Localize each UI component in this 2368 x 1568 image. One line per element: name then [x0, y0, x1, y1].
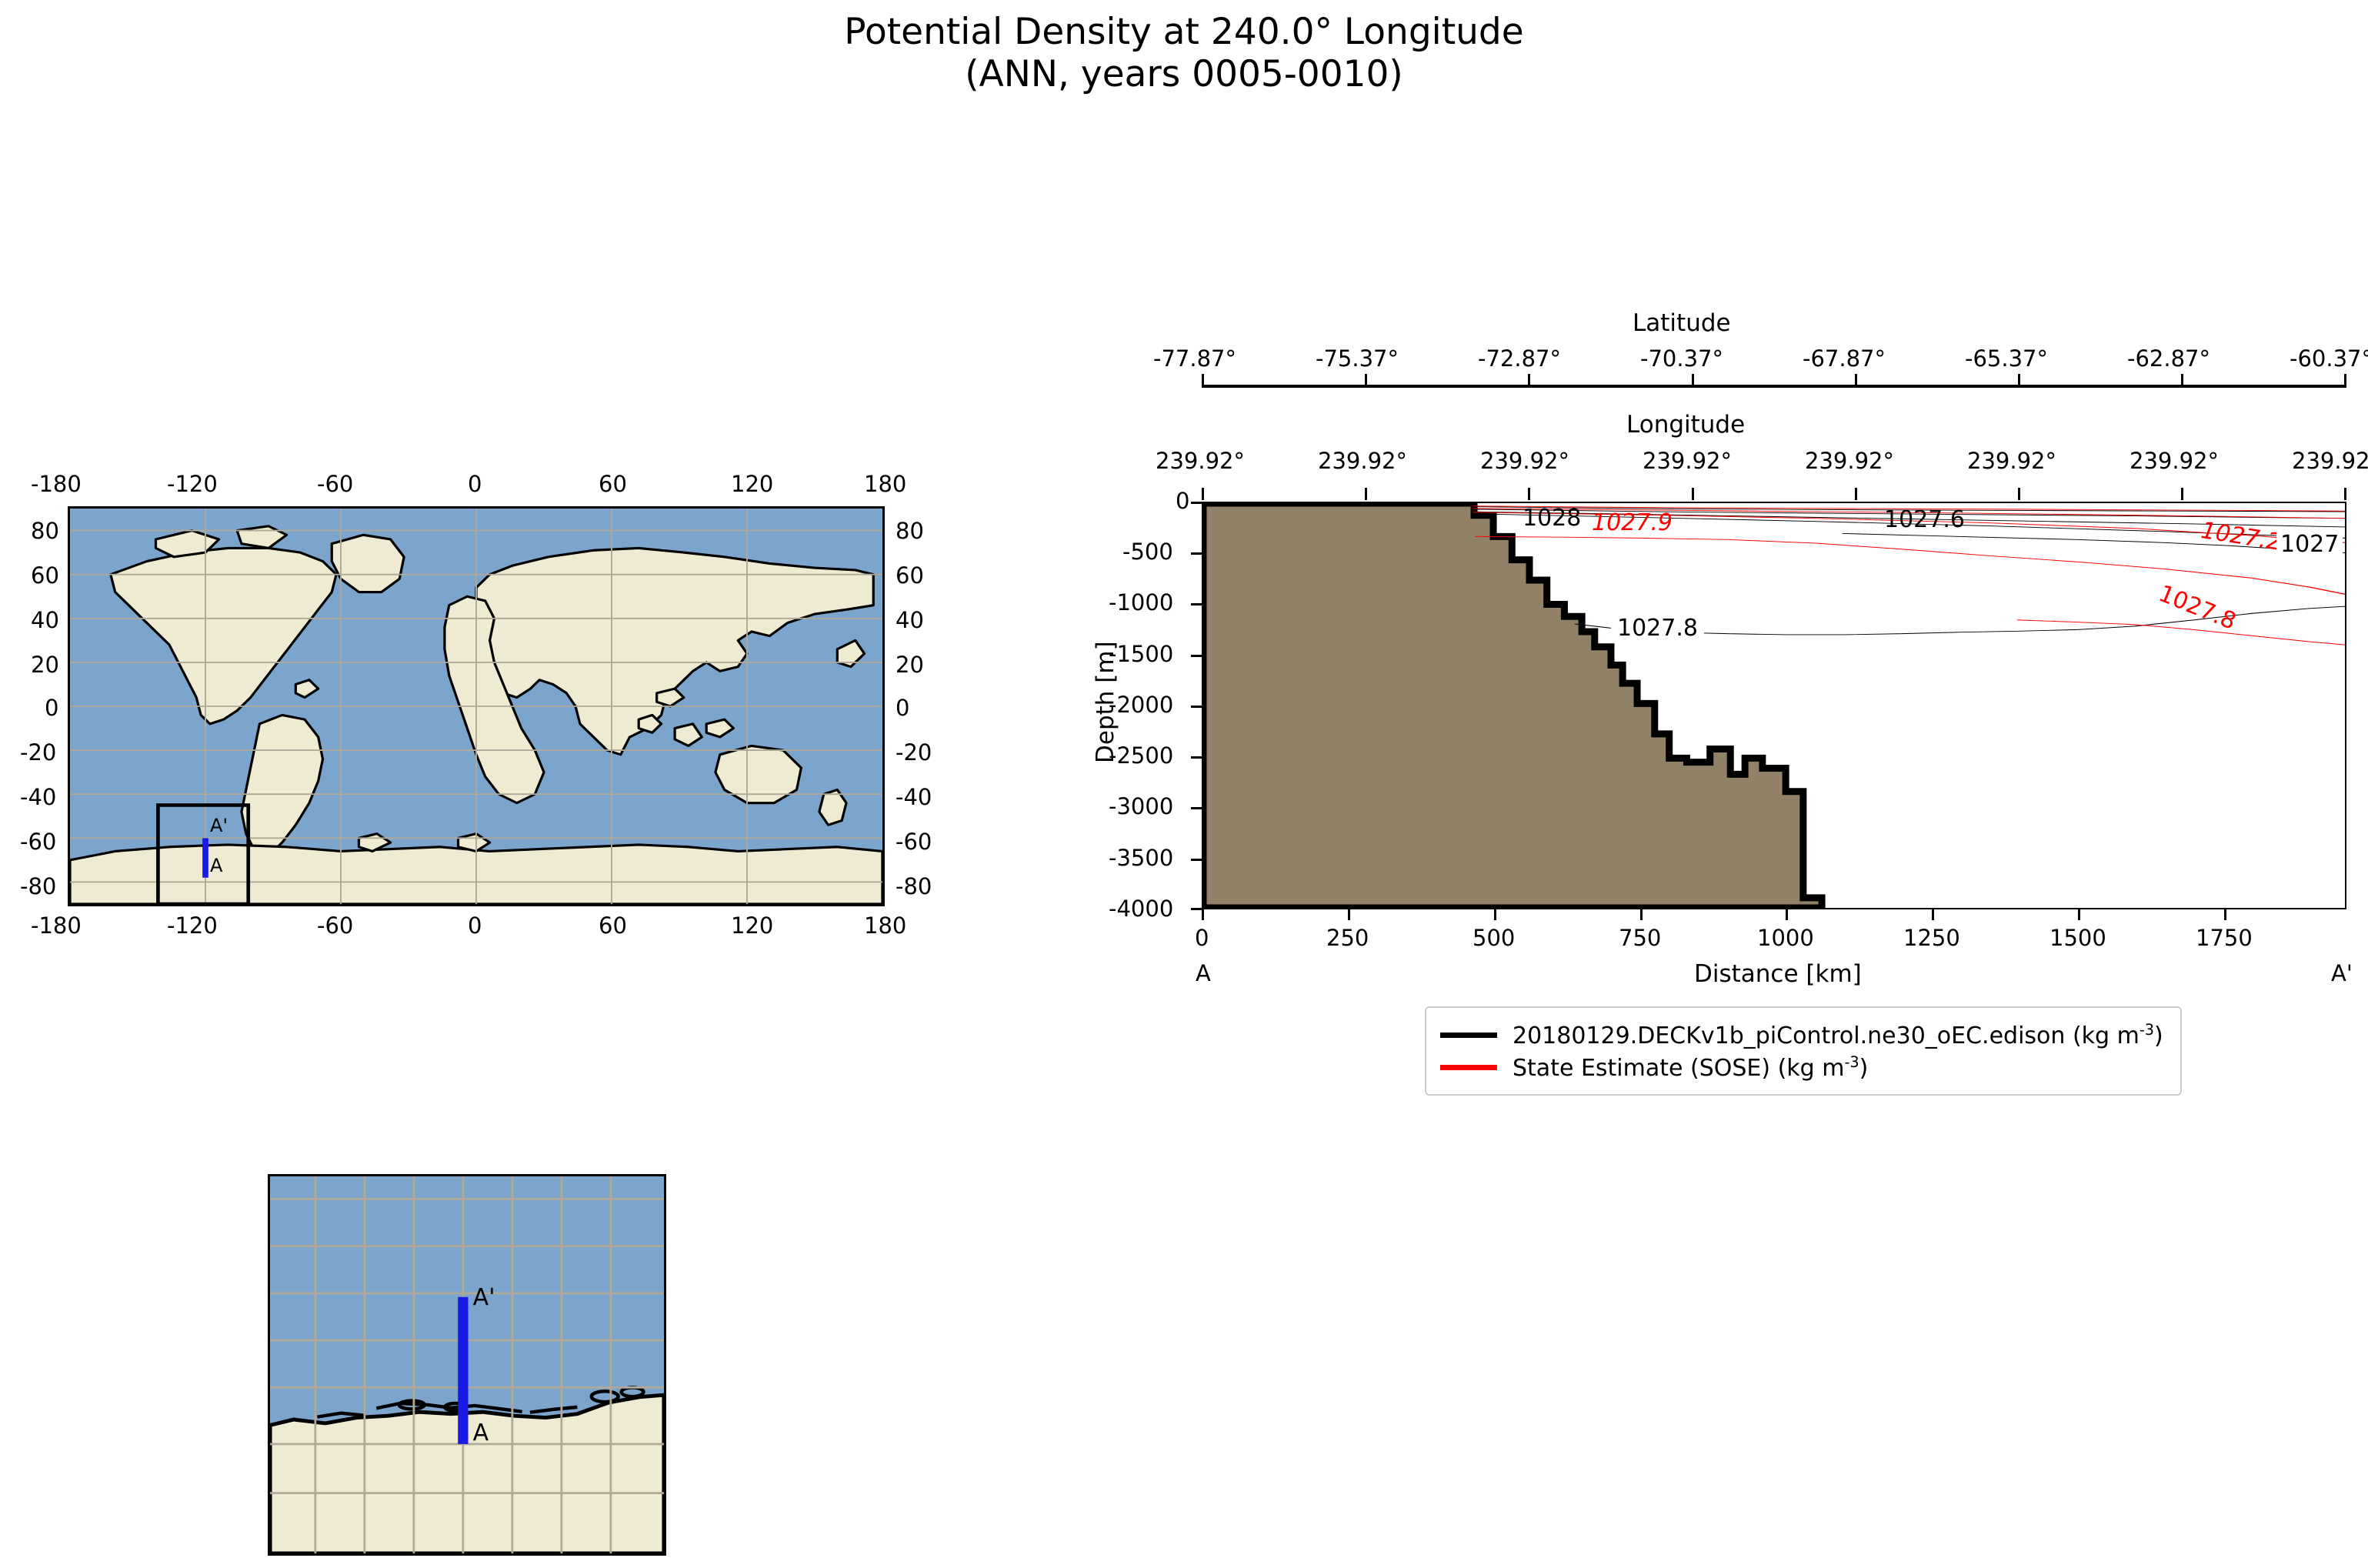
depth-tick-1: -500 [1122, 539, 1173, 565]
distance-tickmark-2 [1494, 909, 1496, 920]
sose-contour-1027p8 [2019, 620, 2345, 645]
inset-transect-start-label: A [473, 1420, 489, 1446]
latitude-axis-title: Latitude [1633, 309, 1731, 337]
legend-label-model: 20180129.DECKv1b_piControl.ne30_oEC.edis… [1513, 1021, 2163, 1049]
world-map-xtick-top-3: 0 [468, 471, 482, 497]
world-map-ytick-right-1: 60 [896, 562, 924, 589]
world-map-ytick-right-7: -60 [896, 829, 932, 855]
section-plot-area[interactable]: 1028 1027.9 1027.6 1027.2 1027.8 1027 10… [1202, 502, 2346, 909]
world-map-transect-end-label: A' [210, 815, 228, 836]
world-map-ytick-right-8: -80 [896, 873, 932, 899]
longitude-tick-0: 239.92° [1156, 448, 1245, 474]
distance-tick-5: 1250 [1903, 925, 1960, 951]
figure-title-line2: (ANN, years 0005-0010) [965, 53, 1403, 95]
world-overview-map: A' A -180 -120 -60 0 60 120 180 -180 -12… [68, 506, 885, 906]
distance-tick-2: 500 [1472, 925, 1515, 951]
longitude-tick-6: 239.92° [2130, 448, 2219, 474]
depth-tick-7: -3500 [1109, 845, 1173, 871]
figure-title: Potential Density at 240.0° Longitude(AN… [0, 11, 2368, 96]
depth-tick-6: -3000 [1109, 793, 1173, 819]
distance-tickmark-3 [1640, 909, 1643, 920]
depth-tickmark-7 [1191, 859, 1202, 861]
contour-label-model-1027p6: 1027.6 [1884, 506, 1965, 533]
inset-transect-end-label: A' [473, 1284, 495, 1311]
depth-tickmark-1 [1191, 552, 1202, 555]
legend-label-model-text: 20180129.DECKv1b_piControl.ne30_oEC.edis… [1513, 1023, 2140, 1049]
legend-label-model-tail: ) [2154, 1023, 2163, 1049]
depth-tick-0: 0 [1176, 488, 1189, 514]
latitude-tickmark-2 [1528, 374, 1530, 385]
world-map-ytick-right-3: 20 [896, 652, 924, 678]
section-end-label: A' [2331, 960, 2353, 986]
latitude-tickmark-4 [1855, 374, 1857, 385]
distance-tickmark-4 [1786, 909, 1788, 920]
latitude-tickmark-5 [2018, 374, 2020, 385]
world-map-ytick-right-2: 40 [896, 607, 924, 633]
world-map-ytick-left-5: -20 [20, 739, 56, 766]
latitude-tick-3: -70.37° [1640, 345, 1723, 372]
legend-row-model[interactable]: 20180129.DECKv1b_piControl.ne30_oEC.edis… [1440, 1019, 2163, 1051]
distance-tick-4: 1000 [1757, 925, 1814, 951]
distance-tick-6: 1500 [2049, 925, 2106, 951]
world-map-ytick-right-5: -20 [896, 739, 932, 766]
world-map-ytick-left-4: 0 [45, 695, 58, 721]
legend-label-model-sup: -3 [2140, 1021, 2154, 1039]
world-map-ytick-right-0: 80 [896, 518, 924, 544]
distance-tickmark-0 [1202, 909, 1204, 920]
longitude-tick-3: 239.92° [1643, 448, 1732, 474]
world-map-ytick-left-7: -60 [20, 829, 56, 855]
longitude-tick-1: 239.92° [1318, 448, 1407, 474]
legend-swatch-model [1440, 1033, 1497, 1038]
distance-tickmark-5 [1932, 909, 1934, 920]
latitude-tickmark-7 [2344, 374, 2346, 385]
world-map-xtick-top-4: 60 [599, 471, 627, 497]
depth-tick-2: -1000 [1109, 589, 1173, 616]
longitude-tickmark-3 [1692, 488, 1694, 500]
section-legend: 20180129.DECKv1b_piControl.ne30_oEC.edis… [1425, 1006, 2182, 1096]
world-map-xtick-bottom-4: 60 [599, 912, 627, 939]
potential-density-cross-section: Latitude -77.87° -75.37° -72.87° -70.37°… [1202, 502, 2346, 909]
distance-tick-3: 750 [1619, 925, 1661, 951]
world-map-ytick-left-1: 60 [31, 562, 59, 589]
distance-axis-title: Distance [km] [1694, 960, 1862, 988]
world-map-xtick-top-1: -120 [167, 471, 218, 497]
latitude-axis-spine [1202, 385, 2346, 388]
contour-label-sose-1027p9: 1027.9 [1592, 509, 1673, 536]
world-map-xtick-bottom-1: -120 [167, 912, 218, 939]
depth-tickmark-4 [1191, 706, 1202, 708]
longitude-axis-title: Longitude [1626, 411, 1745, 439]
legend-row-sose[interactable]: State Estimate (SOSE) (kg m-3) [1440, 1051, 2163, 1083]
depth-tick-3: -1500 [1109, 641, 1173, 667]
world-map-ytick-left-2: 40 [31, 607, 59, 633]
longitude-tick-7: 239.92° [2292, 448, 2368, 474]
legend-swatch-sose [1440, 1065, 1497, 1070]
figure-title-line1: Potential Density at 240.0° Longitude [844, 11, 1523, 53]
world-map-xtick-top-0: -180 [31, 471, 82, 497]
contour-label-model-1028: 1028 [1523, 505, 1581, 532]
distance-tick-1: 250 [1326, 925, 1369, 951]
depth-tick-5: -2500 [1109, 742, 1173, 769]
distance-tick-7: 1750 [2196, 925, 2253, 951]
inset-map-graphic [270, 1176, 664, 1553]
depth-tick-8: -4000 [1109, 896, 1173, 922]
latitude-tick-6: -62.87° [2127, 345, 2210, 372]
world-map-xtick-bottom-6: 180 [864, 912, 906, 939]
world-map-graphic [70, 509, 882, 904]
latitude-tick-4: -67.87° [1803, 345, 1886, 372]
section-graphic [1203, 503, 2345, 908]
longitude-tickmark-5 [2018, 488, 2020, 500]
depth-tickmark-6 [1191, 807, 1202, 809]
distance-tickmark-7 [2224, 909, 2226, 920]
world-map-ytick-left-6: -40 [20, 784, 56, 810]
world-map-xtick-bottom-5: 120 [731, 912, 773, 939]
inset-map-plot-area[interactable]: A' A [268, 1174, 666, 1556]
latitude-tickmark-1 [1365, 374, 1367, 385]
depth-tickmark-2 [1191, 603, 1202, 606]
longitude-tickmark-4 [1855, 488, 1857, 500]
longitude-tick-4: 239.92° [1805, 448, 1894, 474]
depth-tickmark-0 [1191, 502, 1202, 504]
depth-tick-4: -2000 [1109, 692, 1173, 718]
depth-tickmark-5 [1191, 756, 1202, 759]
longitude-tickmark-0 [1202, 488, 1204, 500]
depth-tickmark-3 [1191, 655, 1202, 657]
distance-tickmark-6 [2078, 909, 2080, 920]
depth-tickmark-8 [1191, 908, 1202, 910]
world-map-xtick-bottom-2: -60 [317, 912, 353, 939]
world-map-xtick-bottom-0: -180 [31, 912, 82, 939]
contour-label-model-1027p8: 1027.8 [1611, 615, 1704, 642]
latitude-tickmark-0 [1202, 374, 1204, 385]
legend-label-sose-sup: -3 [1844, 1053, 1859, 1071]
contour-label-model-1027: 1027 [2276, 531, 2343, 558]
world-map-ytick-left-0: 80 [31, 518, 59, 544]
world-map-transect-start-label: A [210, 855, 222, 876]
world-map-ytick-right-4: 0 [896, 695, 909, 721]
legend-label-sose-tail: ) [1859, 1055, 1869, 1082]
latitude-tick-7: -60.37° [2290, 345, 2368, 372]
longitude-tickmark-7 [2344, 488, 2346, 500]
latitude-tick-0: -77.87° [1153, 345, 1236, 372]
world-map-xtick-bottom-3: 0 [468, 912, 482, 939]
section-start-label: A [1196, 960, 1211, 986]
latitude-tick-5: -65.37° [1965, 345, 2048, 372]
longitude-tickmark-6 [2181, 488, 2183, 500]
world-map-xtick-top-6: 180 [864, 471, 906, 497]
regional-zoom-map: A' A [268, 1174, 666, 1556]
distance-tickmark-1 [1348, 909, 1350, 920]
latitude-tickmark-3 [1692, 374, 1694, 385]
world-map-xtick-top-2: -60 [317, 471, 353, 497]
legend-label-sose: State Estimate (SOSE) (kg m-3) [1513, 1053, 1868, 1082]
distance-tick-0: 0 [1195, 925, 1209, 951]
longitude-tick-5: 239.92° [1967, 448, 2056, 474]
longitude-tickmark-1 [1365, 488, 1367, 500]
latitude-tickmark-6 [2181, 374, 2183, 385]
world-map-ytick-left-3: 20 [31, 652, 59, 678]
latitude-tick-2: -72.87° [1478, 345, 1561, 372]
world-map-xtick-top-5: 120 [731, 471, 773, 497]
world-map-ytick-left-8: -80 [20, 873, 56, 899]
world-map-ytick-right-6: -40 [896, 784, 932, 810]
seafloor-bathymetry [1203, 503, 1822, 908]
world-map-plot-area[interactable]: A' A [68, 506, 885, 906]
latitude-tick-1: -75.37° [1316, 345, 1399, 372]
longitude-tickmark-2 [1528, 488, 1530, 500]
longitude-tick-2: 239.92° [1480, 448, 1569, 474]
legend-label-sose-text: State Estimate (SOSE) (kg m [1513, 1055, 1844, 1082]
